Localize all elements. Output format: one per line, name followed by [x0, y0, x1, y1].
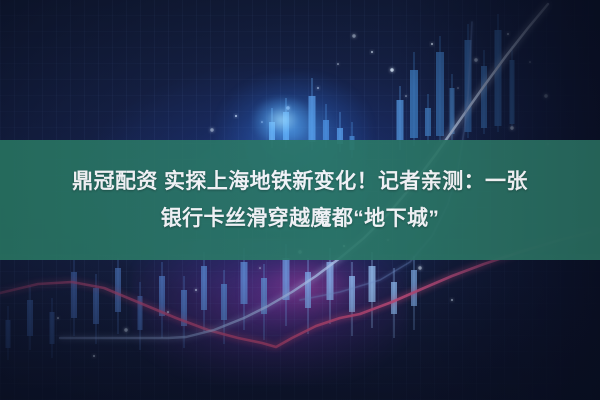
headline-line-1: 鼎冠配资 实探上海地铁新变化！记者亲测：一张 [8, 163, 592, 200]
headline-band: 鼎冠配资 实探上海地铁新变化！记者亲测：一张 银行卡丝滑穿越魔都“地下城” [0, 140, 600, 260]
banner-image: 鼎冠配资 实探上海地铁新变化！记者亲测：一张 银行卡丝滑穿越魔都“地下城” [0, 0, 600, 400]
headline-text: 鼎冠配资 实探上海地铁新变化！记者亲测：一张 银行卡丝滑穿越魔都“地下城” [0, 163, 600, 237]
headline-line-2: 银行卡丝滑穿越魔都“地下城” [8, 200, 592, 237]
